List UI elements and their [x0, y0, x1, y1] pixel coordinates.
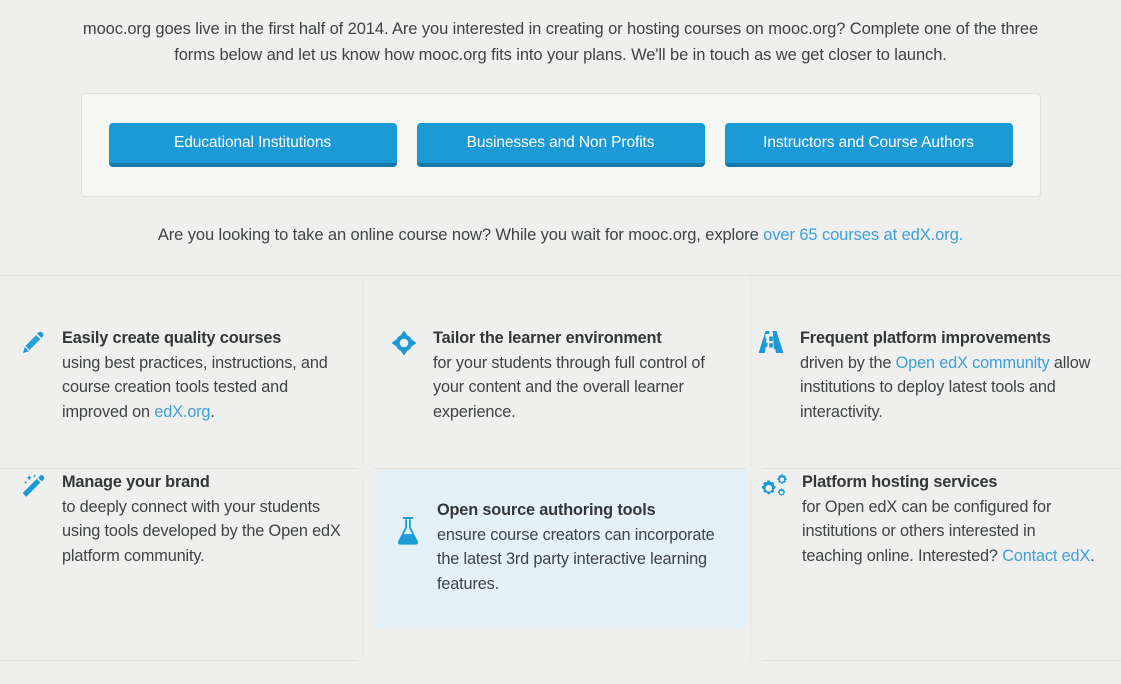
feature-title: Manage your brand [62, 470, 347, 495]
features-row-1: Easily create quality coursesusing best … [0, 276, 1121, 454]
educational-institutions-button[interactable]: Educational Institutions [109, 123, 397, 167]
road-icon [756, 330, 786, 362]
feature-frequent-platform-improvements: Frequent platform improvementsdriven by … [746, 326, 1119, 454]
feature-text: Easily create quality coursesusing best … [62, 326, 347, 424]
contact-edx-link[interactable]: Contact edX [1002, 547, 1090, 565]
feature-body-after: . [210, 403, 214, 421]
feature-open-source-authoring-tools: Open source authoring toolsensure course… [375, 470, 748, 628]
feature-easily-create-quality-courses: Easily create quality coursesusing best … [0, 326, 373, 454]
feature-body-before: driven by the [800, 354, 896, 372]
gears-icon [758, 474, 788, 506]
hero-section: mooc.org goes live in the first half of … [0, 0, 1121, 276]
beaker-icon [393, 516, 423, 548]
edx-org-link[interactable]: edX.org [154, 403, 210, 421]
hero-lead-paragraph: mooc.org goes live in the first half of … [71, 16, 1051, 68]
instructors-and-course-authors-button[interactable]: Instructors and Course Authors [725, 123, 1013, 167]
businesses-and-non-profits-button[interactable]: Businesses and Non Profits [417, 123, 705, 167]
feature-body-before: for your students through full control o… [433, 354, 705, 421]
feature-manage-your-brand: Manage your brandto deeply connect with … [0, 470, 373, 634]
pencil-icon [18, 330, 48, 362]
hero-subtext-prefix: Are you looking to take an online course… [158, 226, 763, 244]
hero-subtext: Are you looking to take an online course… [0, 223, 1121, 247]
open-edx-community-link[interactable]: Open edX community [896, 354, 1050, 372]
page-root: mooc.org goes live in the first half of … [0, 0, 1121, 684]
feature-title: Easily create quality courses [62, 326, 347, 351]
magic-wand-icon [18, 474, 48, 506]
edx-courses-link[interactable]: over 65 courses at edX.org. [763, 226, 963, 244]
feature-title: Tailor the learner environment [433, 326, 720, 351]
feature-body-before: ensure course creators can incorporate t… [437, 526, 715, 593]
feature-tailor-the-learner-environment: Tailor the learner environmentfor your s… [373, 326, 746, 454]
feature-body-before: to deeply connect with your students usi… [62, 498, 341, 565]
feature-title: Frequent platform improvements [800, 326, 1093, 351]
feature-text: Tailor the learner environmentfor your s… [433, 326, 720, 424]
feature-title: Open source authoring tools [437, 498, 724, 523]
bottom-divider-right [762, 660, 1121, 661]
bottom-divider-left [0, 660, 358, 661]
feature-text: Platform hosting servicesfor Open edX ca… [802, 470, 1095, 568]
feature-platform-hosting-services: Platform hosting servicesfor Open edX ca… [748, 470, 1121, 634]
feature-text: Manage your brandto deeply connect with … [62, 470, 347, 568]
cta-button-box: Educational Institutions Businesses and … [81, 93, 1041, 197]
feature-title: Platform hosting services [802, 470, 1095, 495]
feature-text: Open source authoring toolsensure course… [437, 494, 724, 596]
features-section: Easily create quality coursesusing best … [0, 276, 1121, 684]
feature-text: Frequent platform improvementsdriven by … [800, 326, 1093, 424]
move-crosshair-icon [389, 330, 419, 362]
features-row-2: Manage your brandto deeply connect with … [0, 454, 1121, 634]
feature-body-after: . [1090, 547, 1094, 565]
